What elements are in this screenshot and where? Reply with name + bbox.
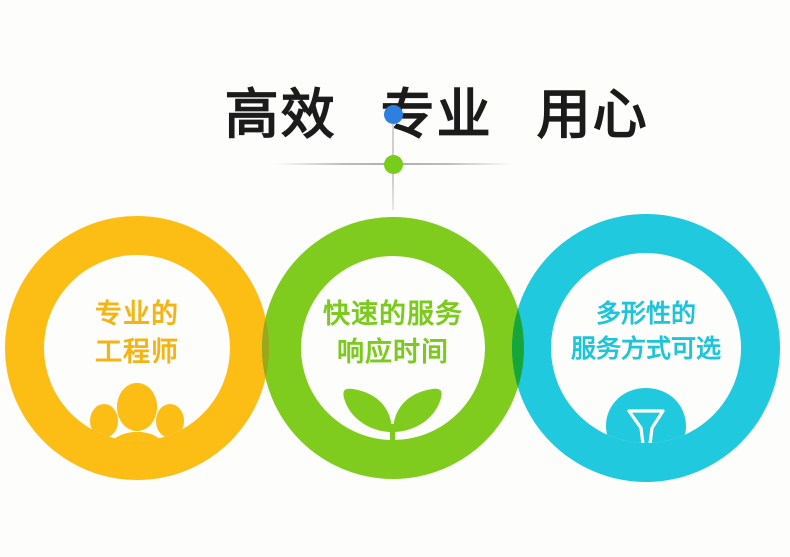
infographic-canvas: 高效专业用心	[0, 0, 790, 557]
venn-diagram	[0, 0, 790, 557]
overlap-green-cyan	[0, 0, 790, 557]
